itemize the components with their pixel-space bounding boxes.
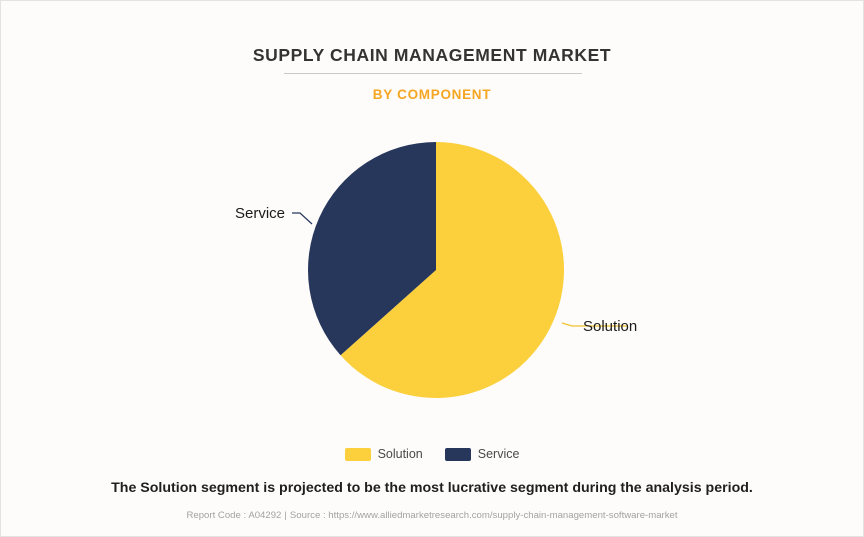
insight-statement: The Solution segment is projected to be … [1,480,863,496]
legend-label-solution: Solution [378,447,423,461]
chart-card: SUPPLY CHAIN MANAGEMENT MARKET BY COMPON… [0,0,864,537]
chart-legend: Solution Service [1,447,863,461]
source-url: Source : https://www.alliedmarketresearc… [290,510,678,521]
legend-swatch-solution [345,448,371,461]
source-separator: | [281,510,290,521]
legend-swatch-service [445,448,471,461]
pie-label-service: Service [235,205,285,222]
legend-label-service: Service [478,447,520,461]
leader-line-service [292,213,312,224]
source-attribution: Report Code : A04292|Source : https://ww… [1,510,863,521]
report-code: Report Code : A04292 [186,510,281,521]
pie-label-solution: Solution [583,318,637,335]
legend-item-solution[interactable]: Solution [345,447,423,461]
legend-item-service[interactable]: Service [445,447,520,461]
